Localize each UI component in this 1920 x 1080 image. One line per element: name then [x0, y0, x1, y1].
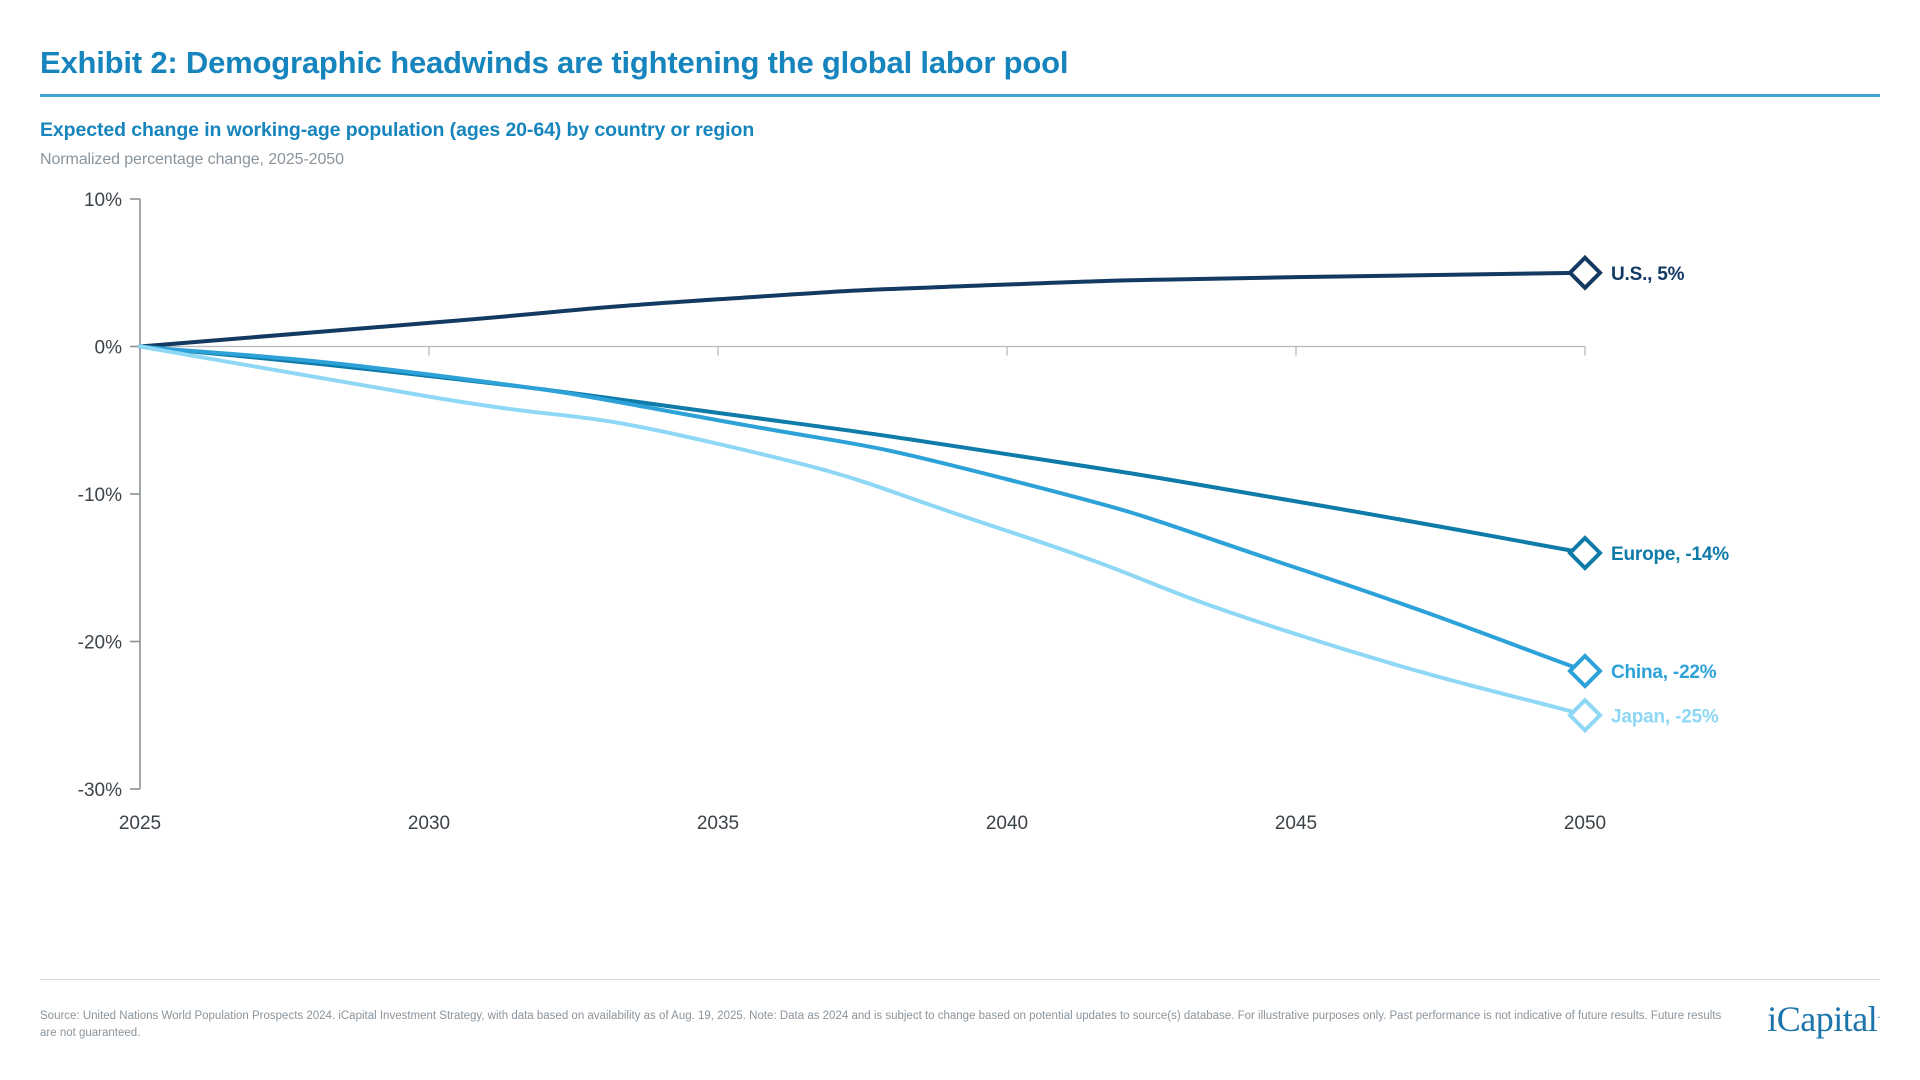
y-tick-label: -20%	[78, 633, 122, 654]
footer-divider	[40, 979, 1880, 980]
end-marker-china	[1570, 656, 1600, 686]
x-tick-label: 2050	[1564, 813, 1606, 834]
slide-page: Exhibit 2: Demographic headwinds are tig…	[0, 0, 1920, 1080]
series-label-europe: Europe, -14%	[1611, 544, 1729, 565]
x-tick-label: 2040	[986, 813, 1028, 834]
series-line-us	[140, 273, 1585, 347]
series-line-china	[140, 347, 1585, 672]
chart-subtitle: Expected change in working-age populatio…	[40, 119, 1880, 142]
footer-row: Source: United Nations World Population …	[40, 998, 1880, 1042]
series-label-china: China, -22%	[1611, 662, 1717, 683]
line-chart: 10%0%-10%-20%-30% 2025203020352040204520…	[40, 181, 1880, 861]
x-tick-label: 2045	[1275, 813, 1317, 834]
series-line-japan	[140, 347, 1585, 716]
icapital-logo: iCapital.	[1767, 998, 1880, 1042]
footer: Source: United Nations World Population …	[40, 979, 1880, 1042]
series-lines	[140, 273, 1585, 716]
title-divider	[40, 94, 1880, 97]
end-marker-europe	[1570, 538, 1600, 568]
y-tick-label: 10%	[84, 190, 122, 211]
y-tick-label: -30%	[78, 780, 122, 801]
y-tick-label: -10%	[78, 485, 122, 506]
page-title: Exhibit 2: Demographic headwinds are tig…	[40, 0, 1880, 80]
axis-lines	[140, 199, 1585, 789]
x-tick-label: 2035	[697, 813, 739, 834]
end-marker-japan	[1570, 700, 1600, 730]
x-axis-ticks: 202520302035204020452050	[119, 813, 1606, 834]
source-note: Source: United Nations World Population …	[40, 1008, 1730, 1043]
series-end-labels: U.S., 5%Europe, -14%China, -22%Japan, -2…	[1611, 264, 1729, 728]
x-tick-label: 2030	[408, 813, 450, 834]
series-end-markers	[1570, 258, 1600, 731]
series-line-europe	[140, 347, 1585, 554]
chart-canvas: 10%0%-10%-20%-30% 2025203020352040204520…	[40, 181, 1880, 861]
end-marker-us	[1570, 258, 1600, 288]
series-label-us: U.S., 5%	[1611, 264, 1685, 285]
y-axis-ticks: 10%0%-10%-20%-30%	[78, 190, 140, 801]
chart-sub-subtitle: Normalized percentage change, 2025-2050	[40, 151, 1880, 169]
x-tick-label: 2025	[119, 813, 161, 834]
logo-registered-mark: .	[1877, 1006, 1880, 1021]
logo-wordmark: iCapital	[1767, 999, 1877, 1039]
series-label-japan: Japan, -25%	[1611, 706, 1719, 727]
y-tick-label: 0%	[95, 338, 123, 359]
